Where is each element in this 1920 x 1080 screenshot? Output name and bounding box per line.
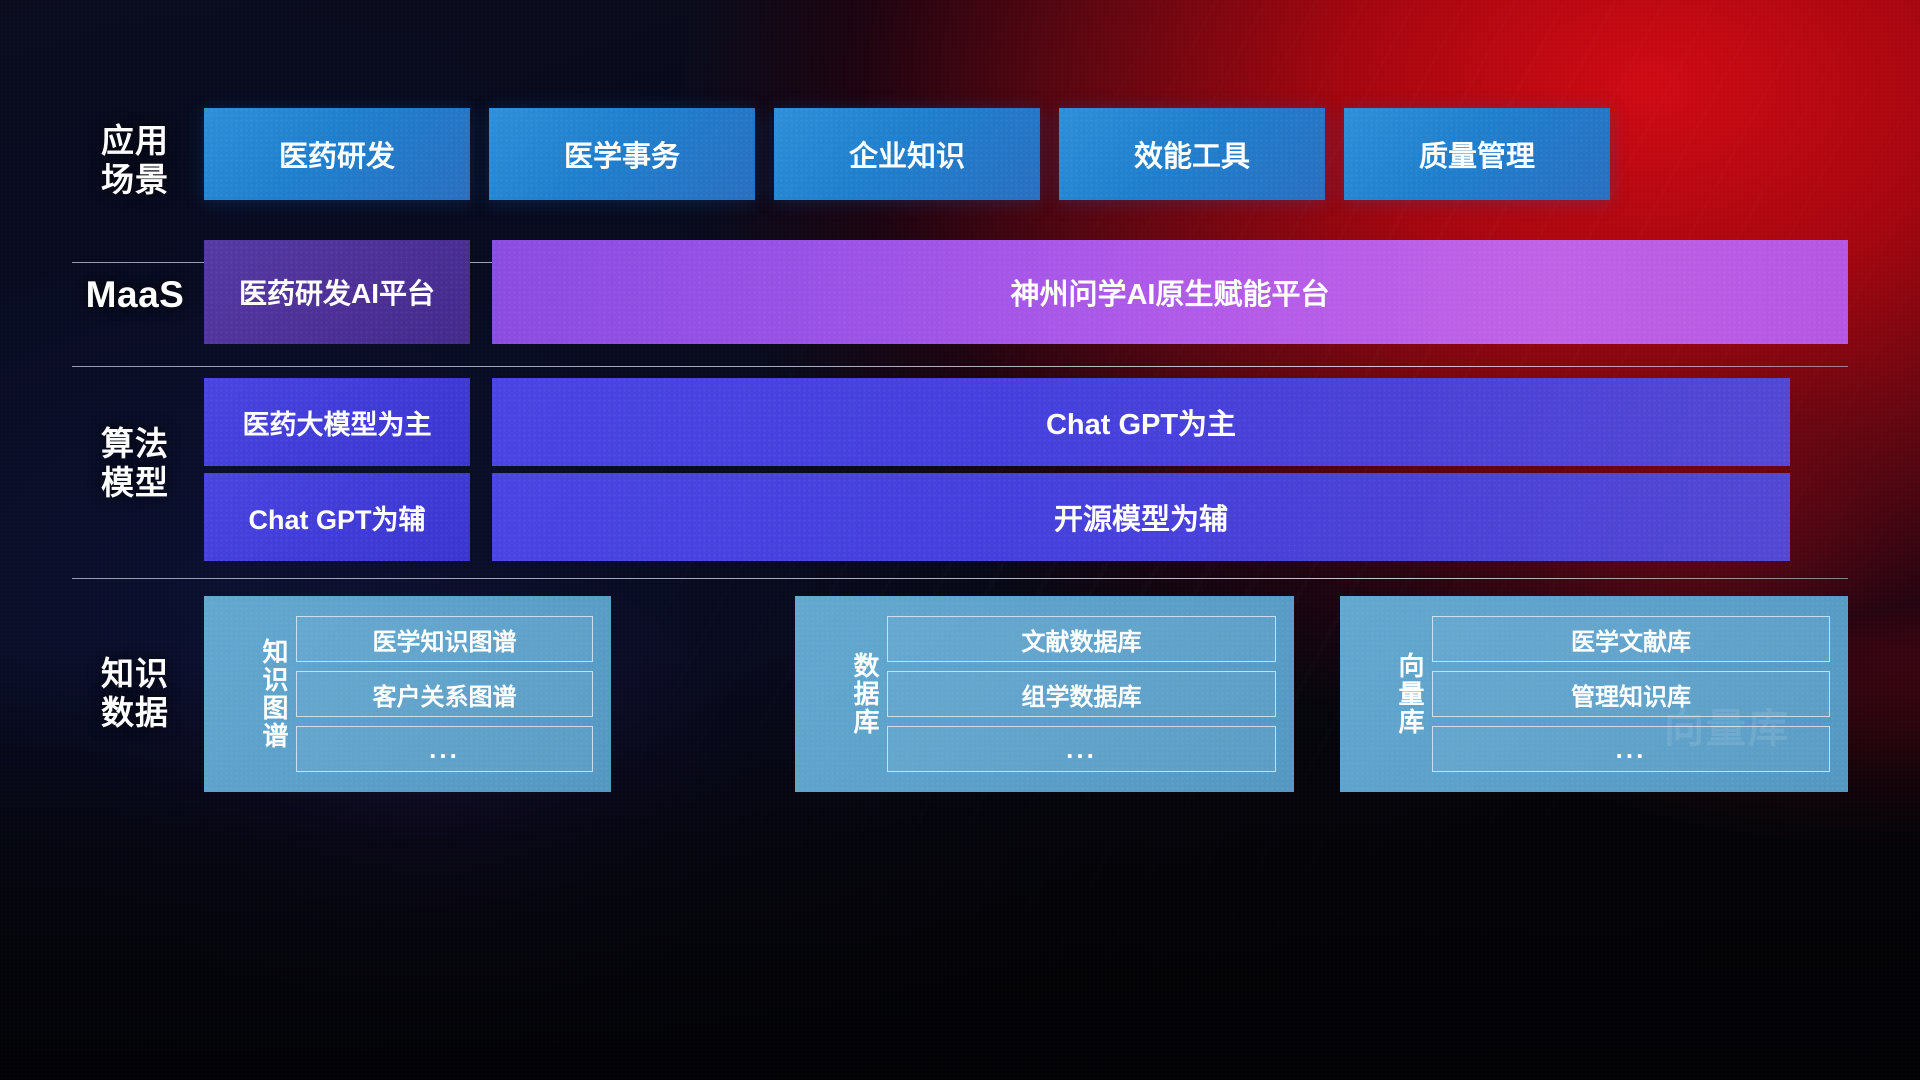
architecture-diagram: 应用 场景 医药研发 医学事务 企业知识 效能工具 质量管理 MaaS 医药研发…: [0, 0, 1920, 1080]
row-label-maas: MaaS: [72, 273, 198, 317]
app-card-label: 质量管理: [1419, 133, 1535, 175]
model-card-chatgpt-primary[interactable]: Chat GPT为主: [492, 378, 1790, 466]
app-card-quality-management[interactable]: 质量管理: [1344, 108, 1610, 200]
knowledge-item[interactable]: 医学文献库: [1432, 616, 1830, 662]
knowledge-item[interactable]: 客户关系图谱: [296, 671, 593, 717]
knowledge-group-label: 向量库: [1360, 652, 1424, 736]
maas-card-shenzhou-wenxue-platform[interactable]: 神州问学AI原生赋能平台: [492, 240, 1848, 344]
model-card-medicine-llm-primary[interactable]: 医药大模型为主: [204, 378, 470, 466]
knowledge-item-more[interactable]: ...: [296, 726, 593, 772]
row-label-line: 知识: [72, 655, 198, 694]
row-label-algorithm-models: 算法 模型: [72, 425, 198, 503]
row-label-line: MaaS: [72, 273, 198, 317]
model-card-label: 医药大模型为主: [243, 403, 432, 442]
app-card-label: 医学事务: [564, 133, 680, 175]
knowledge-group-vector-store[interactable]: 向量库 医学文献库 管理知识库 ... 向量库: [1340, 596, 1848, 792]
model-card-chatgpt-secondary[interactable]: Chat GPT为辅: [204, 473, 470, 561]
knowledge-group-items: 文献数据库 组学数据库 ...: [879, 602, 1294, 786]
model-card-opensource-secondary[interactable]: 开源模型为辅: [492, 473, 1790, 561]
model-card-label: Chat GPT为主: [1046, 401, 1236, 443]
divider-after-algorithm-models: [72, 578, 1848, 579]
maas-card-label: 神州问学AI原生赋能平台: [1010, 271, 1329, 313]
maas-card-label: 医药研发AI平台: [239, 272, 435, 312]
knowledge-item-more[interactable]: ...: [1432, 726, 1830, 772]
knowledge-group-label: 知识图谱: [224, 638, 288, 750]
model-card-label: Chat GPT为辅: [248, 498, 425, 537]
knowledge-item[interactable]: 管理知识库: [1432, 671, 1830, 717]
knowledge-item[interactable]: 文献数据库: [887, 616, 1276, 662]
maas-card-medicine-rd-ai-platform[interactable]: 医药研发AI平台: [204, 240, 470, 344]
knowledge-group-items: 医学文献库 管理知识库 ...: [1424, 602, 1848, 786]
app-card-medical-affairs[interactable]: 医学事务: [489, 108, 755, 200]
knowledge-group-items: 医学知识图谱 客户关系图谱 ...: [288, 602, 611, 786]
app-card-label: 企业知识: [849, 133, 965, 175]
knowledge-item[interactable]: 医学知识图谱: [296, 616, 593, 662]
knowledge-item[interactable]: 组学数据库: [887, 671, 1276, 717]
model-card-label: 开源模型为辅: [1054, 496, 1228, 538]
app-card-medicine-rd[interactable]: 医药研发: [204, 108, 470, 200]
knowledge-group-database[interactable]: 数据库 文献数据库 组学数据库 ...: [795, 596, 1294, 792]
row-label-knowledge-data: 知识 数据: [72, 655, 198, 733]
row-label-application-scenarios: 应用 场景: [72, 122, 198, 200]
knowledge-group-knowledge-graph[interactable]: 知识图谱 医学知识图谱 客户关系图谱 ...: [204, 596, 611, 792]
app-card-efficiency-tools[interactable]: 效能工具: [1059, 108, 1325, 200]
app-card-label: 效能工具: [1134, 133, 1250, 175]
app-card-label: 医药研发: [279, 133, 395, 175]
row-label-line: 算法: [72, 425, 198, 464]
row-label-line: 数据: [72, 694, 198, 733]
app-card-enterprise-knowledge[interactable]: 企业知识: [774, 108, 1040, 200]
row-label-line: 模型: [72, 464, 198, 503]
knowledge-group-label: 数据库: [815, 652, 879, 736]
row-label-line: 应用: [72, 122, 198, 161]
row-label-line: 场景: [72, 161, 198, 200]
divider-after-maas: [72, 366, 1848, 367]
knowledge-item-more[interactable]: ...: [887, 726, 1276, 772]
